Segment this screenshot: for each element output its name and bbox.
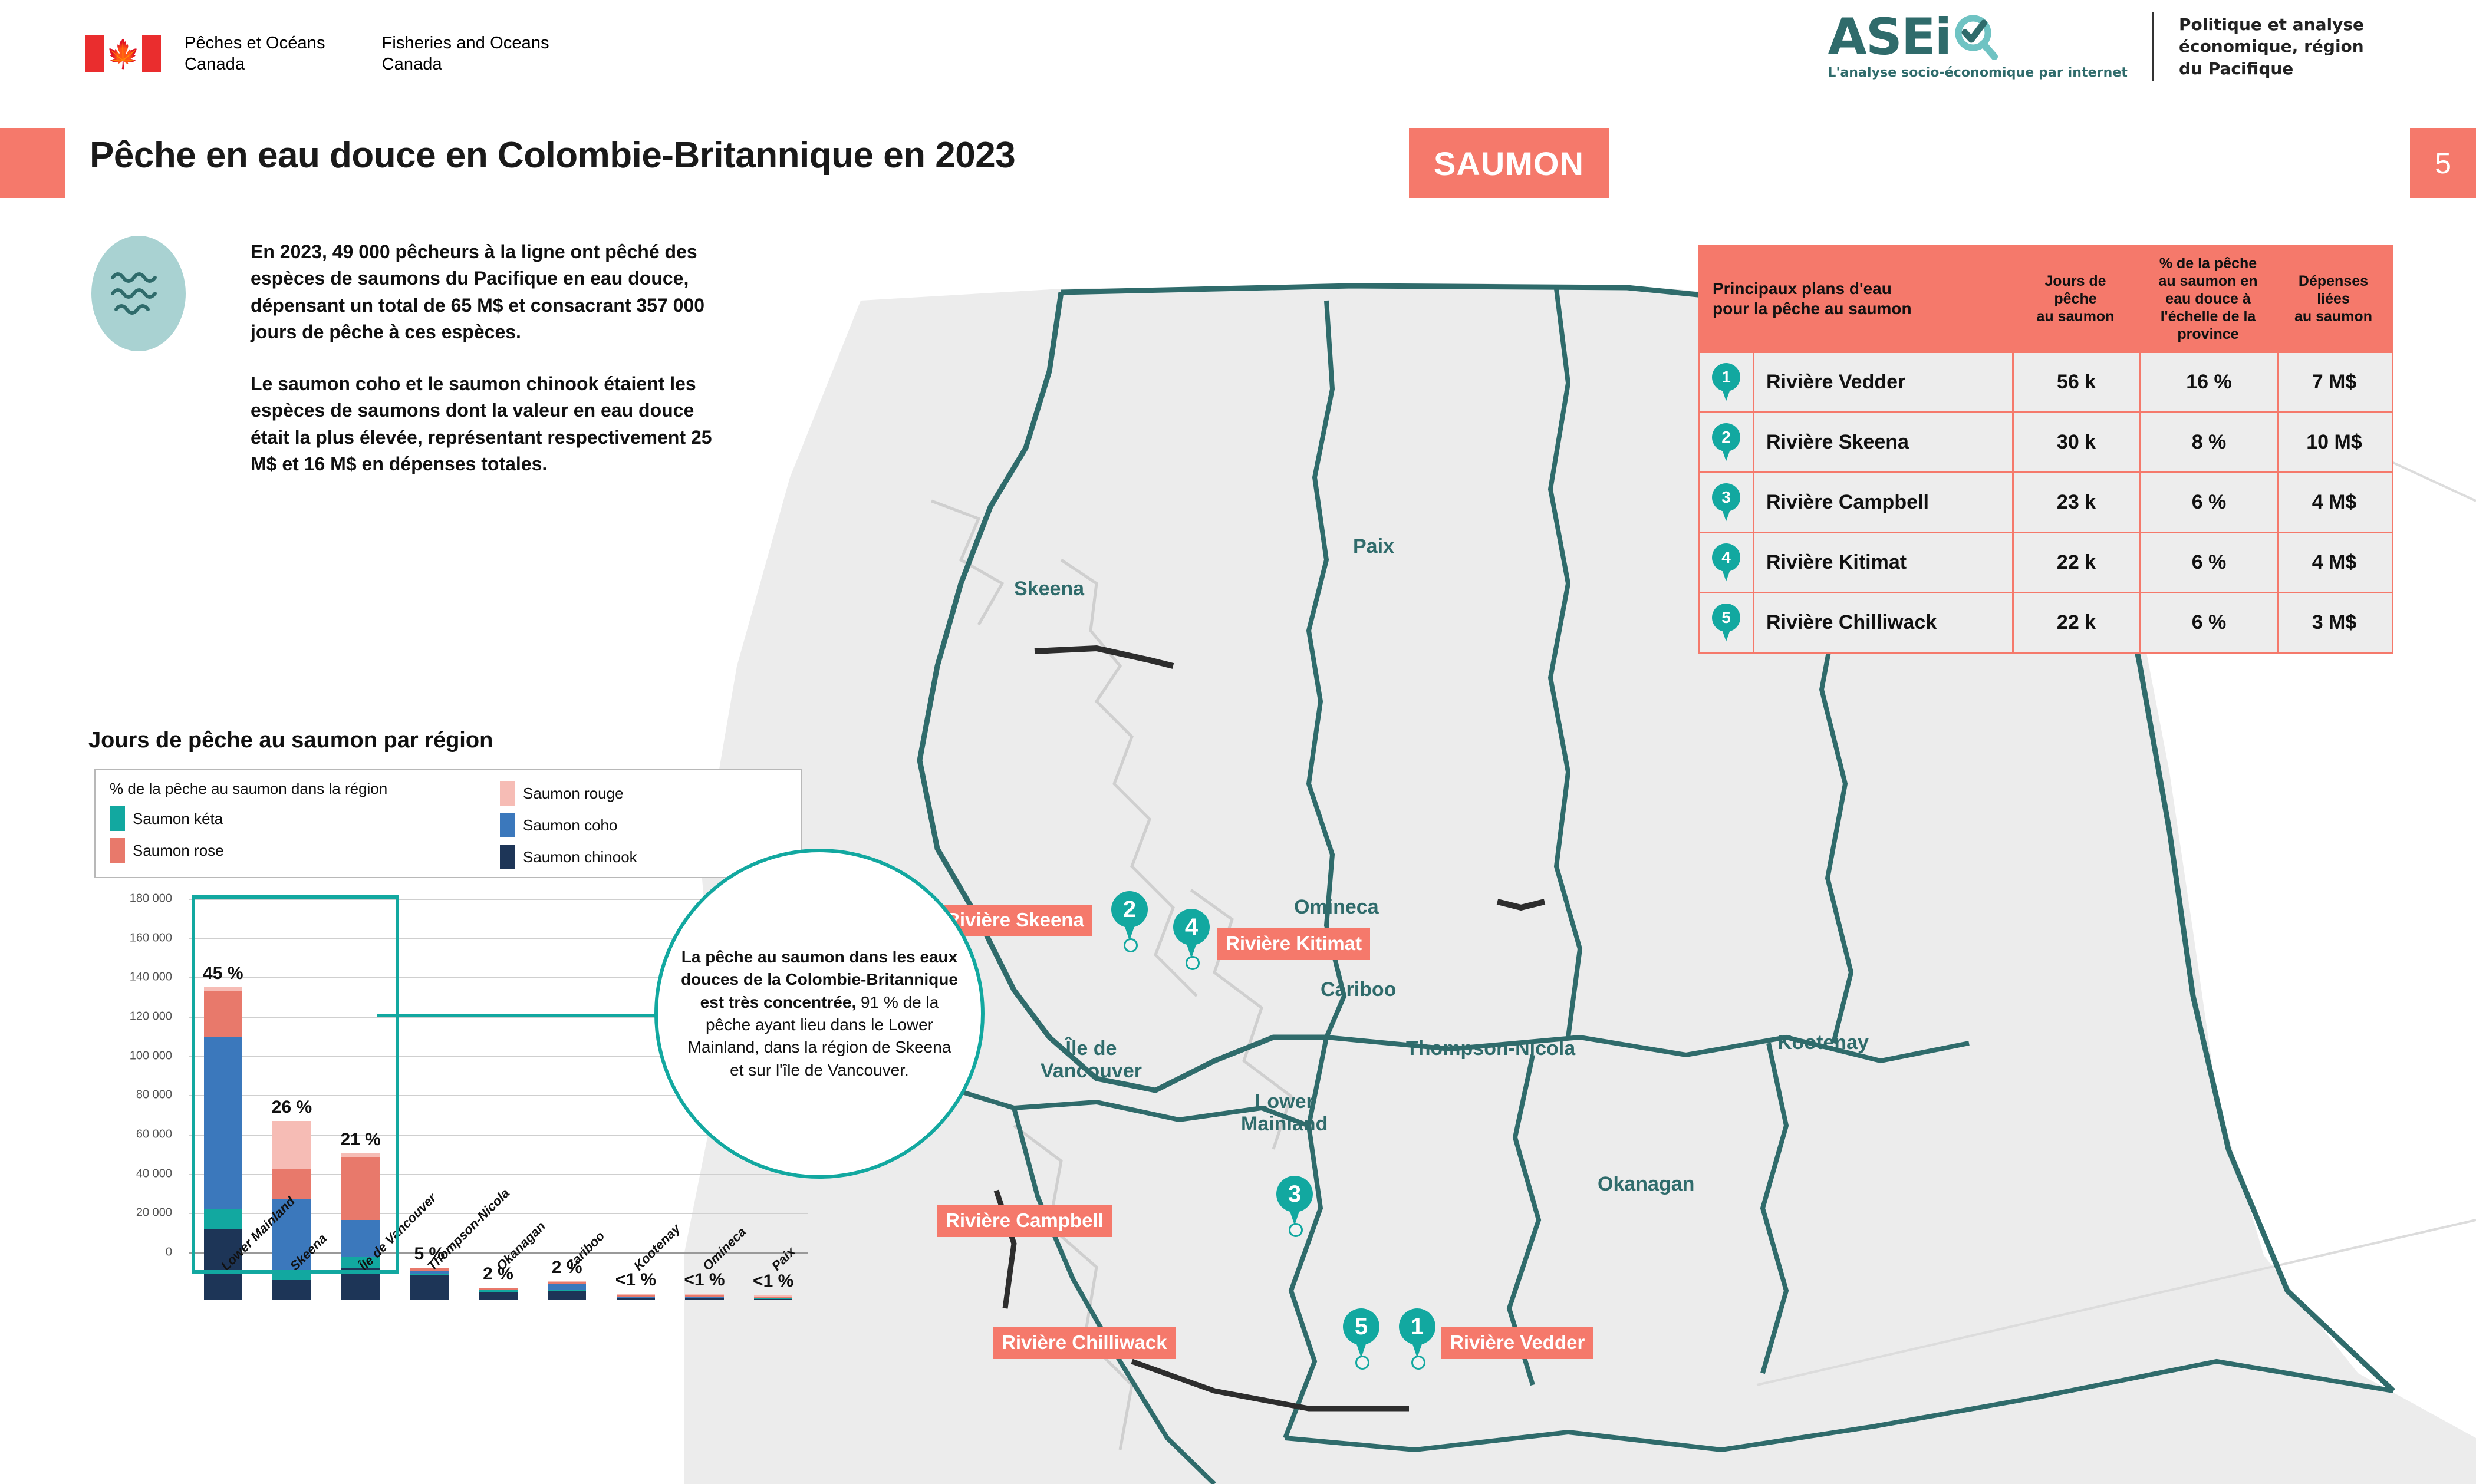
callout-circle: La pêche au saumon dans les eaux douces … [654, 849, 985, 1179]
table-header-waterbody: Principaux plans d'eau pour la pêche au … [1700, 246, 2012, 351]
chart-y-tick: 0 [166, 1246, 172, 1259]
chart-bar: 2 % [548, 1281, 586, 1300]
canada-flag-icon: 🍁 [85, 35, 161, 72]
dfo-fr-line2: Canada [185, 54, 325, 75]
chart-bar-percent-label: <1 % [684, 1270, 725, 1290]
legend-swatch-rouge [500, 781, 515, 806]
chart-bar-segment [685, 1298, 723, 1300]
dfo-en-line2: Canada [382, 54, 549, 75]
table-header-days: Jours de pêche au saumon [2012, 246, 2139, 351]
table-row-pin: 3 [1700, 473, 1753, 532]
table-row: 4 Rivière Kitimat 22 k 6 % 4 M$ [1700, 532, 2392, 592]
map-pin-1[interactable]: 1 [1399, 1308, 1435, 1359]
map-label-thompson-nicola: Thompson-Nicola [1406, 1037, 1575, 1060]
legend-item-rouge: Saumon rouge [500, 777, 637, 809]
chart-y-tick: 120 000 [130, 1010, 172, 1024]
table-row-rank: 2 [1712, 423, 1740, 451]
map-label-ile-de-vancouver: Île de Vancouver [1041, 1037, 1142, 1082]
map-pin-5-anchor [1355, 1356, 1369, 1370]
legend-label-rouge: Saumon rouge [523, 784, 624, 803]
map-pin-1-number: 1 [1399, 1308, 1435, 1345]
legend-swatch-rose [110, 838, 125, 863]
table-cell-expenses: 10 M$ [2277, 413, 2389, 471]
table-cell-expenses: 7 M$ [2277, 353, 2389, 411]
title-accent-block [0, 128, 65, 198]
vertical-divider [2152, 12, 2154, 81]
maple-leaf-glyph: 🍁 [106, 40, 141, 68]
chart-bar: 5 % [410, 1268, 449, 1300]
table-cell-name: Rivière Campbell [1753, 473, 2012, 532]
table-cell-name: Rivière Kitimat [1753, 533, 2012, 592]
legend-label-keta: Saumon kéta [133, 810, 223, 828]
chart-bar-segment [410, 1275, 449, 1300]
map-label-ile-line1: Île de [1066, 1037, 1117, 1060]
aseiq-subtitle-line2: économique, région [2179, 35, 2364, 58]
map-label-omineca: Omineca [1294, 896, 1379, 918]
chart-x-label: Okanagan [493, 1219, 549, 1274]
table-row-rank: 3 [1712, 483, 1740, 512]
table-header-expenses: Dépenses liées au saumon [2277, 246, 2389, 351]
chart-x-label: Omineca [700, 1224, 749, 1274]
legend-swatch-coho [500, 813, 515, 837]
chart-bar-segment [272, 1274, 311, 1280]
map-pin-5-number: 5 [1343, 1308, 1379, 1345]
intro-paragraph-1: En 2023, 49 000 pêcheurs à la ligne ont … [251, 239, 728, 346]
chart-highlight-box [192, 895, 400, 1274]
table-header-waterbody-line1: Principaux plans d'eau [1713, 279, 1912, 299]
table-cell-name: Rivière Skeena [1753, 413, 2012, 471]
aseiq-subtitle-line3: du Pacifique [2179, 58, 2364, 80]
table-cell-expenses: 4 M$ [2277, 473, 2389, 532]
legend-item-coho: Saumon coho [500, 809, 637, 841]
legend-label-rose: Saumon rose [133, 842, 224, 860]
table-row-pin: 4 [1700, 533, 1753, 592]
map-label-skeena: Skeena [1014, 578, 1084, 600]
aseiq-branding: ASEi L'analyse socio-économique par inte… [1828, 12, 2364, 81]
chart-title: Jours de pêche au saumon par région [88, 728, 493, 753]
intro-paragraph-2: Le saumon coho et le saumon chinook étai… [251, 371, 728, 478]
page-title: Pêche en eau douce en Colombie-Britanniq… [90, 134, 1015, 176]
dfo-en-line1: Fisheries and Oceans [382, 32, 549, 54]
chart-y-tick: 160 000 [130, 931, 172, 945]
dfo-fr-line1: Pêches et Océans [185, 32, 325, 54]
legend-item-chinook: Saumon chinook [500, 841, 637, 873]
table-row-rank: 5 [1712, 604, 1740, 632]
chart-bar-segment [548, 1291, 586, 1300]
table-cell-pct: 6 % [2139, 593, 2277, 652]
chart-bar-segment [272, 1280, 311, 1300]
table-row-pin: 2 [1700, 413, 1753, 471]
map-pin-3[interactable]: 3 [1276, 1176, 1313, 1226]
chart-y-tick: 20 000 [136, 1206, 172, 1220]
map-pin-1-anchor [1411, 1356, 1425, 1370]
table-row-rank: 4 [1712, 543, 1740, 572]
dfo-wordmark-en: Fisheries and Oceans Canada [382, 32, 549, 75]
table-cell-name: Rivière Vedder [1753, 353, 2012, 411]
map-label-lower-line2: Mainland [1241, 1113, 1328, 1135]
chart-bar-percent-label: <1 % [615, 1270, 656, 1290]
chart-bar: 2 % [479, 1288, 517, 1300]
chart-bar: <1 % [685, 1294, 723, 1300]
table-row: 2 Rivière Skeena 30 k 8 % 10 M$ [1700, 411, 2392, 471]
table-cell-pct: 8 % [2139, 413, 2277, 471]
chart-bar: <1 % [754, 1295, 792, 1300]
table-header-waterbody-line2: pour la pêche au saumon [1713, 299, 1912, 319]
map-pin-4-anchor [1186, 956, 1200, 970]
table-row-pin: 5 [1700, 593, 1753, 652]
legend-title: % de la pêche au saumon dans la région [110, 780, 786, 798]
table-row-pin: 1 [1700, 353, 1753, 411]
river-label-chilliwack: Rivière Chilliwack [993, 1327, 1176, 1359]
chart-x-label: Kootenay [631, 1221, 683, 1274]
map-label-lower-mainland: Lower Mainland [1241, 1090, 1328, 1135]
legend-swatch-keta [110, 806, 125, 831]
chart-y-tick: 140 000 [130, 971, 172, 984]
map-label-paix: Paix [1353, 535, 1394, 558]
river-label-vedder: Rivière Vedder [1441, 1327, 1593, 1359]
chart-y-tick: 100 000 [130, 1049, 172, 1063]
table-row: 1 Rivière Vedder 56 k 16 % 7 M$ [1700, 351, 2392, 411]
chart-x-label: Cariboo [562, 1228, 608, 1274]
chart-legend: % de la pêche au saumon dans la région S… [94, 769, 802, 878]
waves-icon [91, 236, 186, 351]
legend-item-keta: Saumon kéta [110, 803, 487, 835]
map-pin-2[interactable]: 2 [1111, 891, 1148, 942]
table-cell-pct: 6 % [2139, 473, 2277, 532]
chart-y-tick: 80 000 [136, 1089, 172, 1102]
map-label-cariboo: Cariboo [1321, 978, 1396, 1001]
legend-item-rose: Saumon rose [110, 835, 487, 866]
government-of-canada-signature: 🍁 Pêches et Océans Canada Fisheries and … [85, 32, 549, 75]
aseiq-logo-letters: ASEi [1828, 14, 1951, 62]
species-chip-label: SAUMON [1434, 144, 1584, 183]
aseiq-subtitle-line1: Politique et analyse [2179, 14, 2364, 36]
table-cell-days: 56 k [2012, 353, 2139, 411]
table-cell-expenses: 3 M$ [2277, 593, 2389, 652]
map-label-kootenay: Kootenay [1777, 1031, 1869, 1054]
map-pin-4-number: 4 [1173, 909, 1210, 945]
map-pin-4[interactable]: 4 [1173, 909, 1210, 959]
map-label-ile-line2: Vancouver [1041, 1060, 1142, 1082]
table-row: 5 Rivière Chilliwack 22 k 6 % 3 M$ [1700, 592, 2392, 652]
table-header-percent: % de la pêche au saumon en eau douce à l… [2139, 246, 2277, 351]
table-cell-pct: 6 % [2139, 533, 2277, 592]
map-label-okanagan: Okanagan [1598, 1173, 1694, 1195]
map-pin-2-anchor [1124, 938, 1138, 952]
chart-bar-segment [548, 1284, 586, 1290]
map-label-lower-line1: Lower [1255, 1090, 1314, 1113]
map-pin-5[interactable]: 5 [1343, 1308, 1379, 1359]
table-cell-days: 23 k [2012, 473, 2139, 532]
legend-swatch-chinook [500, 845, 515, 869]
table-cell-expenses: 4 M$ [2277, 533, 2389, 592]
intro-text-block: En 2023, 49 000 pêcheurs à la ligne ont … [251, 239, 728, 478]
table-cell-name: Rivière Chilliwack [1753, 593, 2012, 652]
table-row-rank: 1 [1712, 363, 1740, 391]
chart-bar-percent-label: <1 % [753, 1271, 793, 1291]
chart-y-tick: 40 000 [136, 1167, 172, 1180]
table-cell-days: 22 k [2012, 593, 2139, 652]
map-pin-3-number: 3 [1276, 1176, 1313, 1212]
table-header-row: Principaux plans d'eau pour la pêche au … [1700, 246, 2392, 351]
chart-y-tick: 180 000 [130, 892, 172, 906]
page-number-value: 5 [2435, 146, 2451, 180]
map-pin-3-anchor [1289, 1223, 1303, 1237]
chart-x-label: Paix [769, 1244, 798, 1274]
magnifier-check-icon [1952, 14, 2000, 62]
callout-text: La pêche au saumon dans les eaux douces … [681, 946, 958, 1081]
table-cell-days: 30 k [2012, 413, 2139, 471]
chart-bar-segment [479, 1292, 517, 1300]
page-number-badge: 5 [2410, 128, 2476, 198]
aseiq-tagline: L'analyse socio-économique par internet [1828, 65, 2128, 80]
species-chip: SAUMON [1409, 128, 1609, 198]
aseiq-logo: ASEi L'analyse socio-économique par inte… [1828, 14, 2128, 80]
aseiq-subtitle: Politique et analyse économique, région … [2179, 14, 2364, 80]
chart-bar-segment [754, 1299, 792, 1300]
top-waterbodies-table: Principaux plans d'eau pour la pêche au … [1698, 245, 2393, 654]
map-pin-2-number: 2 [1111, 891, 1148, 928]
chart-y-tick: 60 000 [136, 1128, 172, 1142]
table-cell-pct: 16 % [2139, 353, 2277, 411]
dfo-wordmark-fr: Pêches et Océans Canada [185, 32, 325, 75]
river-label-kitimat: Rivière Kitimat [1217, 928, 1370, 960]
legend-label-chinook: Saumon chinook [523, 848, 637, 866]
legend-label-coho: Saumon coho [523, 816, 617, 835]
table-row: 3 Rivière Campbell 23 k 6 % 4 M$ [1700, 471, 2392, 532]
chart-bar: <1 % [617, 1294, 655, 1300]
table-cell-days: 22 k [2012, 533, 2139, 592]
callout-leader-line [377, 1014, 660, 1017]
chart-bar-segment [617, 1298, 655, 1300]
river-label-campbell: Rivière Campbell [937, 1205, 1112, 1237]
